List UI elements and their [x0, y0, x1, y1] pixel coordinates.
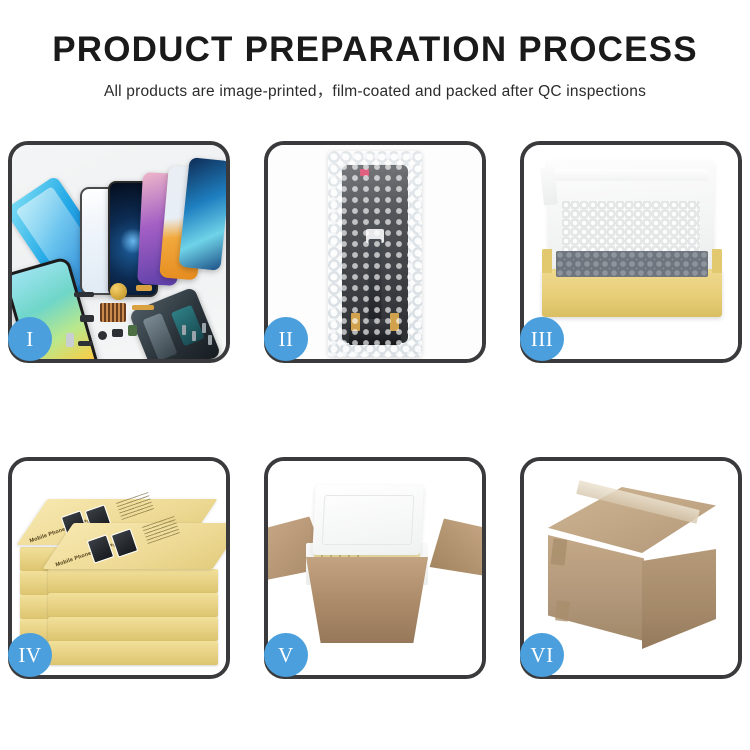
step-badge-6: VI — [520, 633, 564, 677]
step-badge-3: III — [520, 317, 564, 361]
screws-icon — [180, 323, 216, 347]
small-part-icon — [112, 329, 123, 337]
stacked-box — [48, 569, 218, 593]
box-stack: Mobile Phone Spare Parts Mobile Phone Sp… — [18, 483, 224, 663]
product-preparation-infographic: PRODUCT PREPARATION PROCESS All products… — [0, 0, 750, 750]
box-lip-right — [712, 249, 722, 273]
yellow-inner-box-tray — [542, 269, 722, 317]
sim-tray-icon — [66, 333, 74, 347]
stacked-box — [48, 617, 218, 641]
carton-body — [306, 557, 428, 643]
small-part-icon — [74, 292, 94, 297]
carton-flap-right — [425, 510, 482, 589]
gold-contact-icon — [351, 313, 360, 331]
styrofoam-lid — [312, 485, 424, 555]
flex-cable-icon — [369, 239, 382, 331]
page-title: PRODUCT PREPARATION PROCESS — [0, 30, 750, 70]
battery-part-icon — [128, 325, 137, 336]
packing-tape-icon — [555, 600, 570, 621]
step-badge-1: I — [8, 317, 52, 361]
step-panel-3[interactable]: III — [520, 141, 742, 363]
box-lip-left — [542, 249, 552, 273]
chip-grid-icon — [100, 303, 126, 322]
connector-icon — [349, 319, 401, 345]
speaker-part-icon — [110, 283, 127, 300]
step-panel-5[interactable]: V — [264, 457, 486, 679]
bubble-wrap-bag — [328, 151, 422, 357]
stacked-box — [48, 593, 218, 617]
step-badge-2: II — [264, 317, 308, 361]
process-steps-grid: I II — [8, 141, 742, 679]
small-part-icon — [98, 331, 107, 340]
gold-contact-icon — [390, 313, 399, 331]
step-badge-5: V — [264, 633, 308, 677]
header: PRODUCT PREPARATION PROCESS All products… — [0, 0, 750, 101]
flex-cable-icon — [136, 285, 152, 291]
step-badge-4: IV — [8, 633, 52, 677]
small-part-icon — [78, 341, 92, 346]
step-panel-2[interactable]: II — [264, 141, 486, 363]
flex-cable-icon — [132, 305, 154, 310]
stacked-box — [48, 641, 218, 665]
packing-tape-icon — [551, 538, 568, 565]
gray-bubble-padding — [556, 251, 708, 277]
carton-side-face — [642, 549, 716, 649]
step-panel-6[interactable]: VI — [520, 457, 742, 679]
step-panel-1[interactable]: I — [8, 141, 230, 363]
small-part-icon — [80, 315, 94, 322]
label-sticker-icon — [360, 169, 369, 176]
step-panel-4[interactable]: Mobile Phone Spare Parts Mobile Phone Sp… — [8, 457, 230, 679]
page-subtitle: All products are image-printed，film-coat… — [0, 79, 750, 101]
